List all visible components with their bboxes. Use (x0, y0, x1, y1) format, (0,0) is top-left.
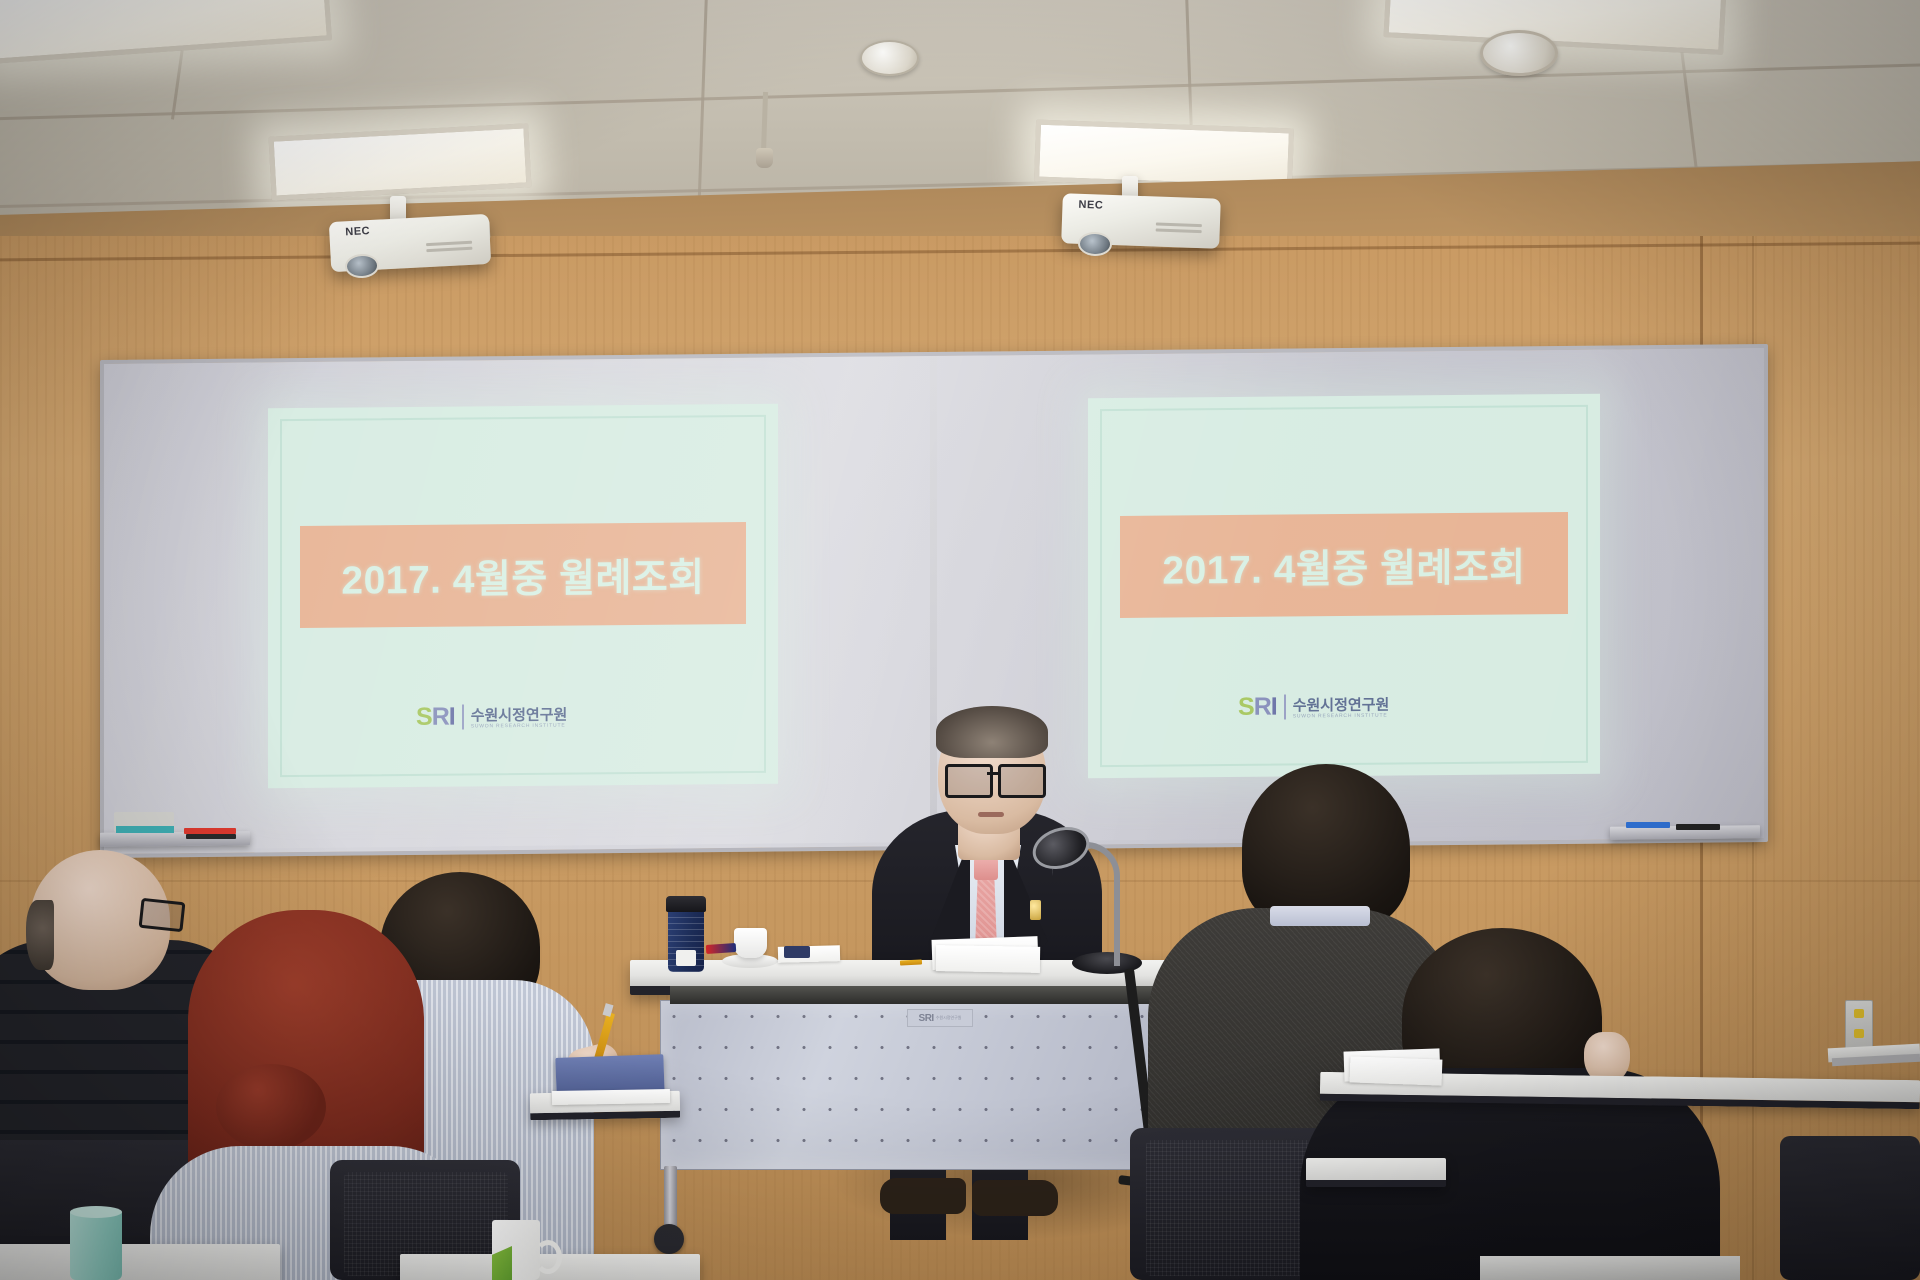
table-leg (664, 1166, 677, 1232)
foreground-desk-left (0, 1244, 280, 1280)
black-marker (1676, 824, 1720, 830)
notebook-pages (552, 1089, 670, 1105)
av-jack-icon (1854, 1029, 1864, 1038)
projector-brand-label: NEC (1078, 199, 1103, 212)
tumbler-label (676, 950, 696, 966)
ceiling-speaker-icon (1480, 30, 1558, 76)
wall-connector-plate (1845, 1000, 1873, 1050)
name-card (784, 946, 810, 958)
modesty-panel-sri-label: SRI 수원시정연구원 (907, 1009, 973, 1027)
speaker-hair (936, 706, 1048, 758)
meeting-room-photo: NEC NEC 2017. 4월중 월례조회 SRI 수원시정연구원 SUWON… (0, 0, 1920, 1280)
attendee-1-glasses-icon (139, 898, 186, 932)
speaker-tie-knot (974, 858, 998, 880)
mint-mug (70, 1210, 122, 1280)
tumbler-lid (666, 896, 706, 912)
attendee-5-chair (1780, 1136, 1920, 1280)
handout-papers (1350, 1056, 1443, 1085)
sprinkler-head-icon (756, 148, 773, 168)
black-marker (186, 834, 236, 839)
lapel-pin-icon (1030, 900, 1041, 920)
glasses-lens-right-icon (998, 764, 1046, 798)
chair-mesh (1146, 1140, 1318, 1276)
sri-tag-korean: 수원시정연구원 (936, 1015, 962, 1021)
foreground-desk-right (1480, 1256, 1740, 1280)
glasses-lens-left-icon (945, 764, 993, 798)
attendee-1-hair (26, 900, 54, 970)
speaker-shoe-left (880, 1178, 966, 1214)
speaker-documents (936, 945, 1040, 973)
glasses-bridge-icon (987, 772, 998, 775)
speaker-mouth (978, 812, 1004, 817)
whiteboard-eraser-base (116, 826, 174, 833)
table-caster (654, 1224, 684, 1254)
mint-mug-rim (70, 1206, 122, 1218)
mug-handle (534, 1240, 562, 1274)
av-jack-icon (1854, 1009, 1864, 1018)
coffee-cup (734, 928, 767, 958)
attendee-4-collar (1270, 906, 1370, 926)
audience-desk-right-lower (1306, 1158, 1446, 1187)
attendee-2-hair-bun (216, 1064, 326, 1150)
blue-marker (1626, 822, 1670, 828)
sri-tag-mark: SRI (919, 1013, 934, 1024)
led-panel-light (269, 123, 532, 201)
speaker-shoe-right (972, 1180, 1058, 1216)
smoke-detector-icon (860, 40, 919, 76)
projector-brand-label: NEC (345, 225, 370, 238)
whiteboard-reflection (100, 344, 1760, 850)
